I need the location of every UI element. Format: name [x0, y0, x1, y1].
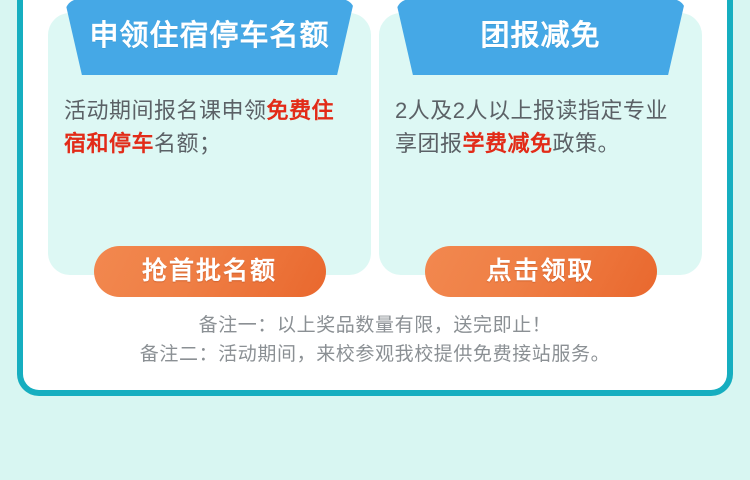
claim-first-batch-button[interactable]: 抢首批名额 — [94, 246, 326, 297]
body-part-1: 活动期间报名课申领 — [64, 98, 267, 123]
footer-notes: 备注一：以上奖品数量有限，送完即止！ 备注二：活动期间，来校参观我校提供免费接站… — [23, 312, 727, 370]
offer-card-group-discount: 团报减免 2人及2人以上报读指定专业享团报学费减免政策。 点击领取 — [379, 13, 702, 275]
banner-title: 团报减免 — [480, 22, 600, 53]
offer-card-accommodation-parking: 申领住宿停车名额 活动期间报名课申领免费住宿和停车名额； 抢首批名额 — [48, 13, 371, 275]
cta-wrapper: 点击领取 — [379, 246, 702, 297]
banner-title: 申领住宿停车名额 — [89, 22, 329, 53]
note-line-2: 备注二：活动期间，来校参观我校提供免费接站服务。 — [23, 341, 727, 370]
body-part-2: 名额； — [154, 131, 222, 156]
click-to-claim-button[interactable]: 点击领取 — [425, 246, 657, 297]
note-line-1: 备注一：以上奖品数量有限，送完即止！ — [23, 312, 727, 341]
card-banner-group-discount: 团报减免 — [396, 0, 686, 75]
card-body-text: 活动期间报名课申领免费住宿和停车名额； — [48, 95, 371, 160]
cta-wrapper: 抢首批名额 — [48, 246, 371, 297]
offer-cards-row: 申领住宿停车名额 活动期间报名课申领免费住宿和停车名额； 抢首批名额 团报减免 … — [23, 13, 727, 275]
card-body-text: 2人及2人以上报读指定专业享团报学费减免政策。 — [379, 95, 702, 160]
card-banner-accommodation-parking: 申领住宿停车名额 — [65, 0, 355, 75]
outer-frame: 申领住宿停车名额 活动期间报名课申领免费住宿和停车名额； 抢首批名额 团报减免 … — [17, 0, 733, 396]
body-highlight-1: 学费减免 — [463, 131, 553, 156]
body-part-2: 政策。 — [553, 131, 621, 156]
